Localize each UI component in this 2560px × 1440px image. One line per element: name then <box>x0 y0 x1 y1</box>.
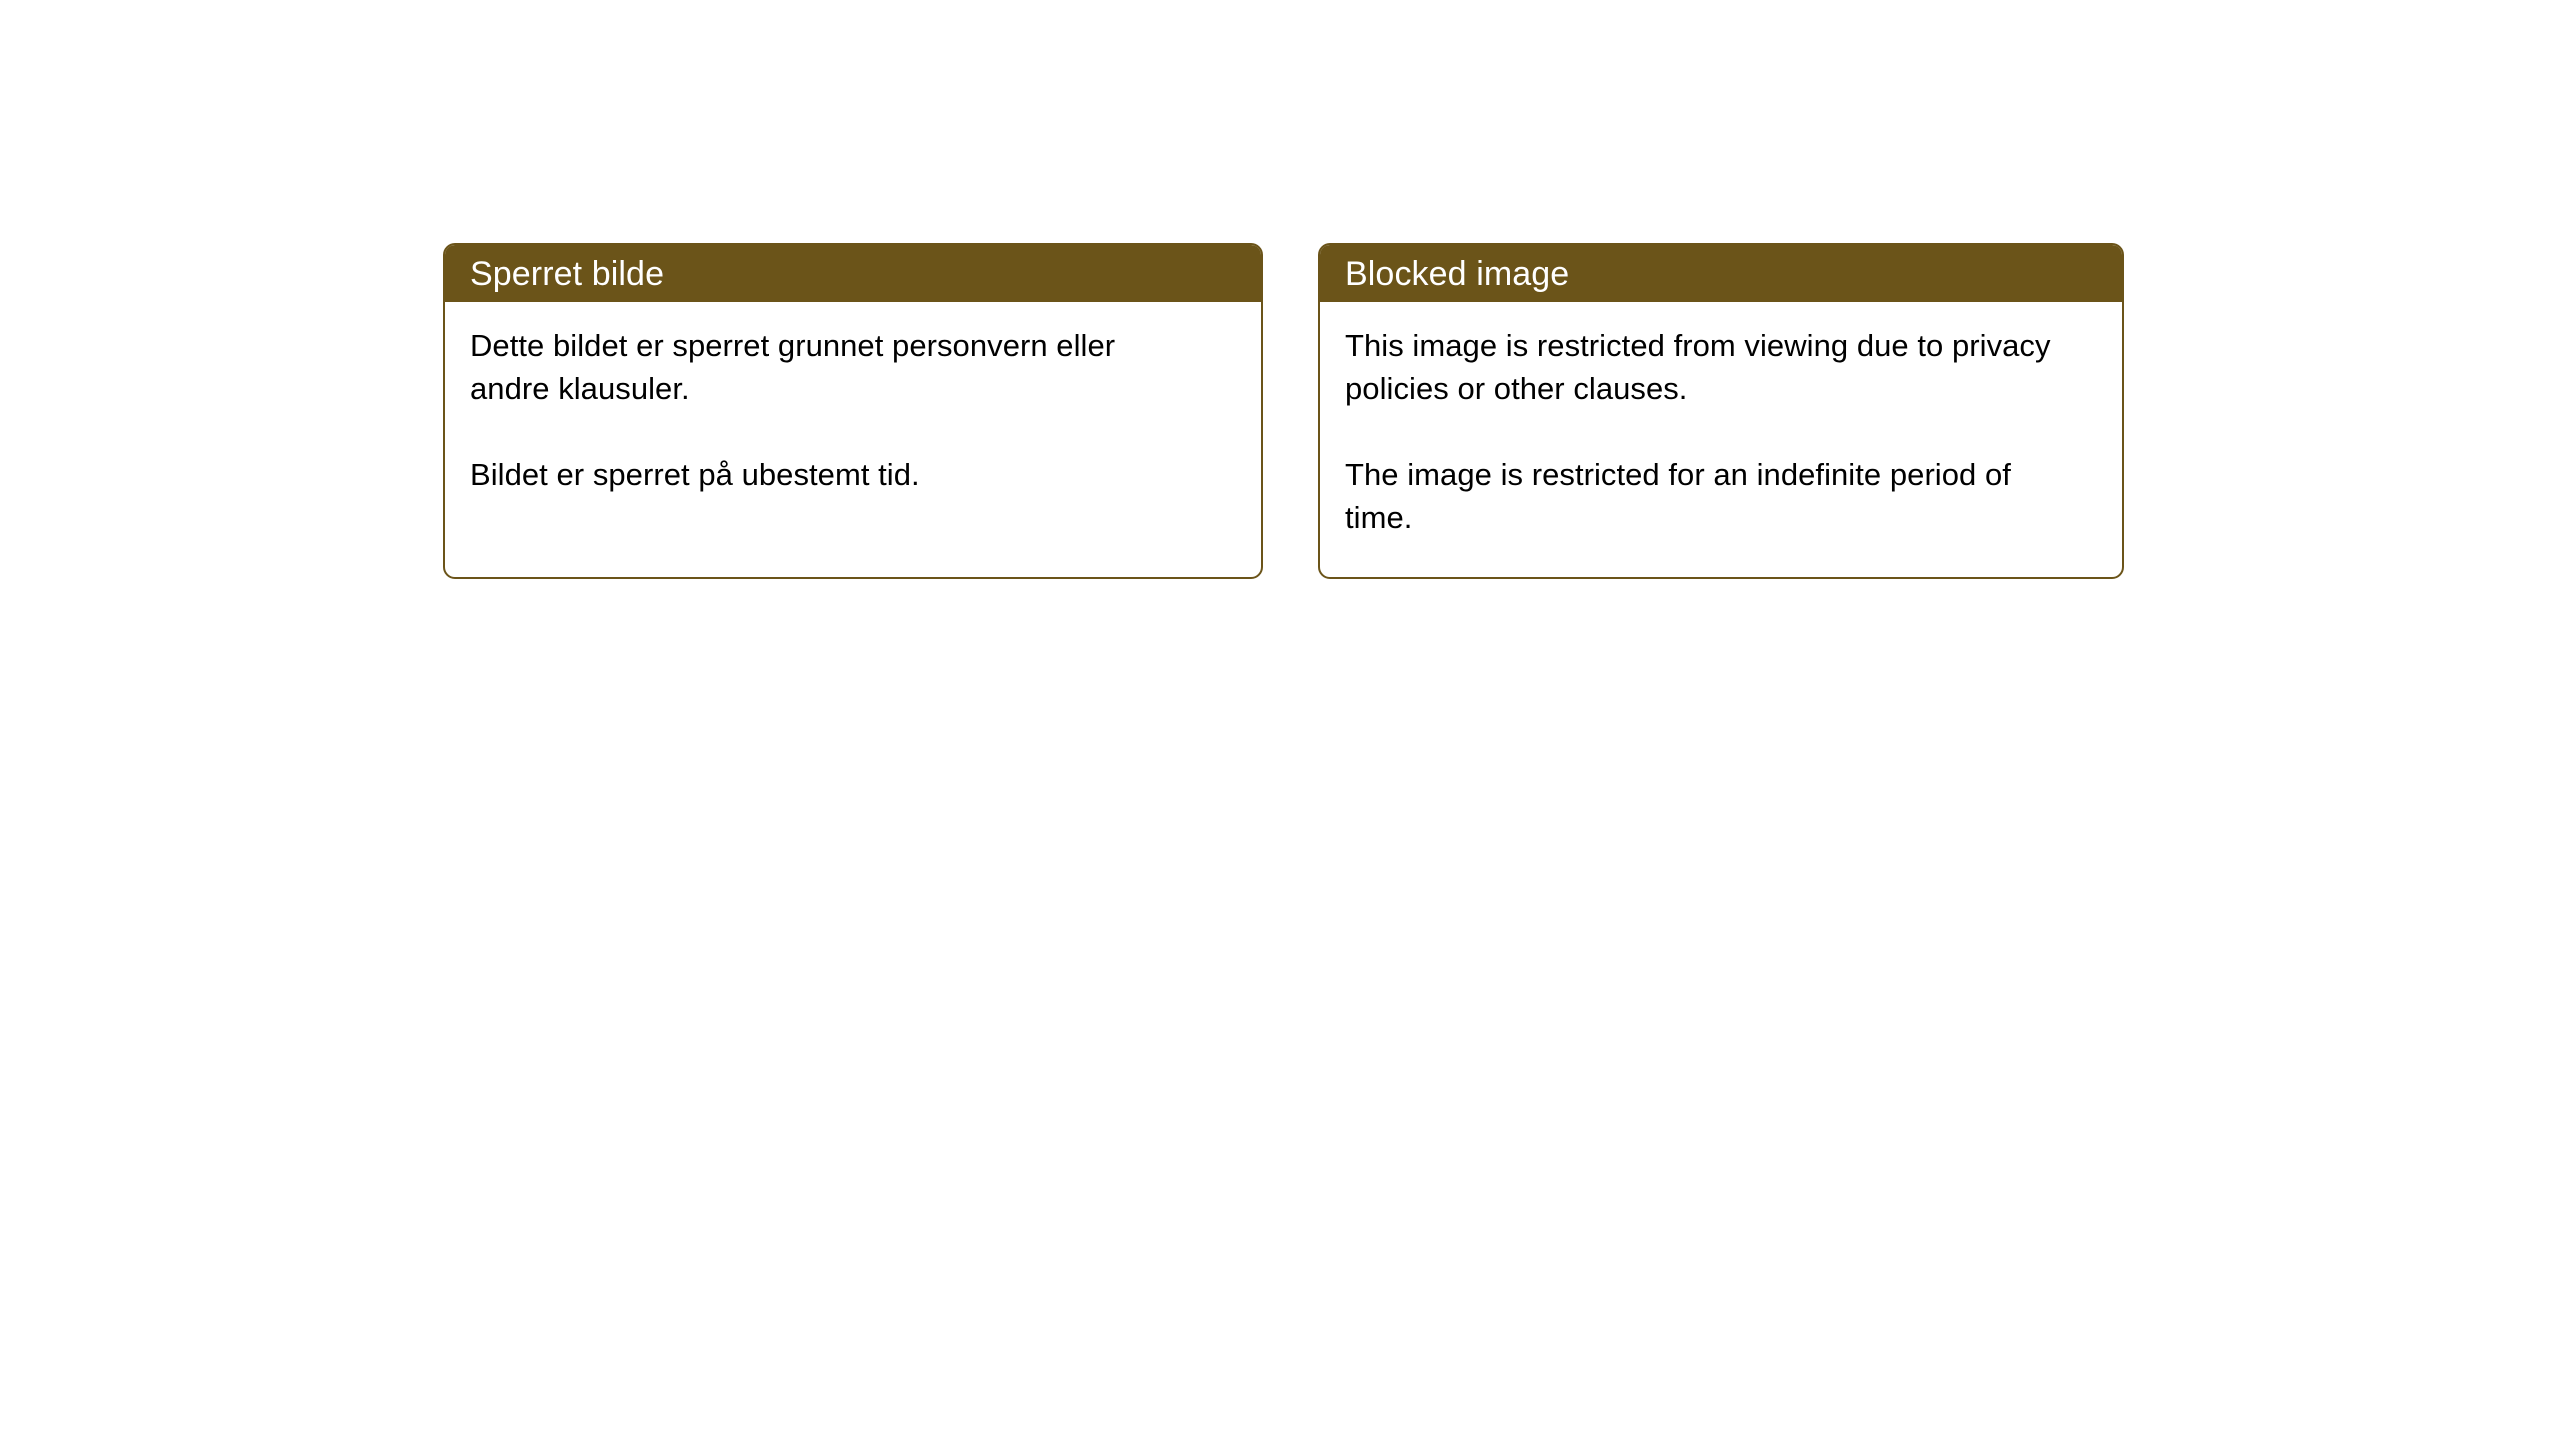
panel-body-norwegian: Dette bildet er sperret grunnet personve… <box>445 302 1261 496</box>
panel-title-english: Blocked image <box>1345 257 1569 291</box>
panel-header-norwegian: Sperret bilde <box>445 245 1261 302</box>
notice-paragraph-primary-english: This image is restricted from viewing du… <box>1345 324 2065 410</box>
blocked-image-notice-norwegian: Sperret bilde Dette bildet er sperret gr… <box>443 243 1263 579</box>
notice-paragraph-secondary-norwegian: Bildet er sperret på ubestemt tid. <box>470 453 1170 496</box>
notice-paragraph-primary-norwegian: Dette bildet er sperret grunnet personve… <box>470 324 1170 410</box>
panel-header-english: Blocked image <box>1320 245 2122 302</box>
blocked-image-notice-english: Blocked image This image is restricted f… <box>1318 243 2124 579</box>
panel-title-norwegian: Sperret bilde <box>470 257 664 291</box>
notice-paragraph-secondary-english: The image is restricted for an indefinit… <box>1345 453 2065 539</box>
page-root: Sperret bilde Dette bildet er sperret gr… <box>0 0 2560 1440</box>
panel-body-english: This image is restricted from viewing du… <box>1320 302 2122 539</box>
